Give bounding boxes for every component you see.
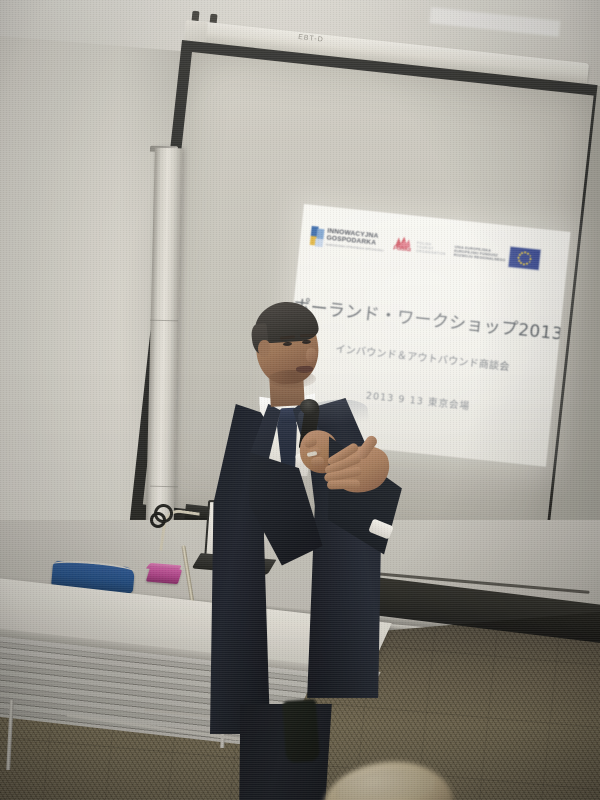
logo-polska-tourist-organisation: Polska POLISH TOURIST ORGANISATION <box>392 235 448 261</box>
eu-text: UNIA EUROPEJSKA EUROPEJSKI FUNDUSZ ROZWO… <box>453 245 506 263</box>
jaw-shadow <box>268 370 316 388</box>
eu-flag-icon <box>508 246 542 271</box>
ear <box>258 340 270 357</box>
logo-innowacyjna-gospodarka: INNOWACYJNA GOSPODARKA NARODOWA STRATEGI… <box>310 226 386 254</box>
audience-leg <box>282 699 320 763</box>
finger <box>327 479 360 489</box>
pink-case <box>146 567 182 584</box>
innowacyjna-gospodarka-mark-icon <box>310 226 325 247</box>
slide-logo-strip: INNOWACYJNA GOSPODARKA NARODOWA STRATEGI… <box>309 219 561 279</box>
desk-microphone-head-icon <box>150 512 166 528</box>
polska-wordmark: Polska <box>393 246 411 254</box>
polska-kite-mark-icon: Polska <box>392 235 415 257</box>
logo-unia-europejska: UNIA EUROPEJSKA EUROPEJSKI FUNDUSZ ROZWO… <box>453 240 542 271</box>
polska-org-text: POLISH TOURIST ORGANISATION <box>416 241 447 256</box>
innowacyjna-gospodarka-text: INNOWACYJNA GOSPODARKA NARODOWA STRATEGI… <box>326 229 386 253</box>
presentation-photograph: EBT-D INNOWACYJNA GOSPODARKA NARODOWA ST… <box>0 0 600 800</box>
